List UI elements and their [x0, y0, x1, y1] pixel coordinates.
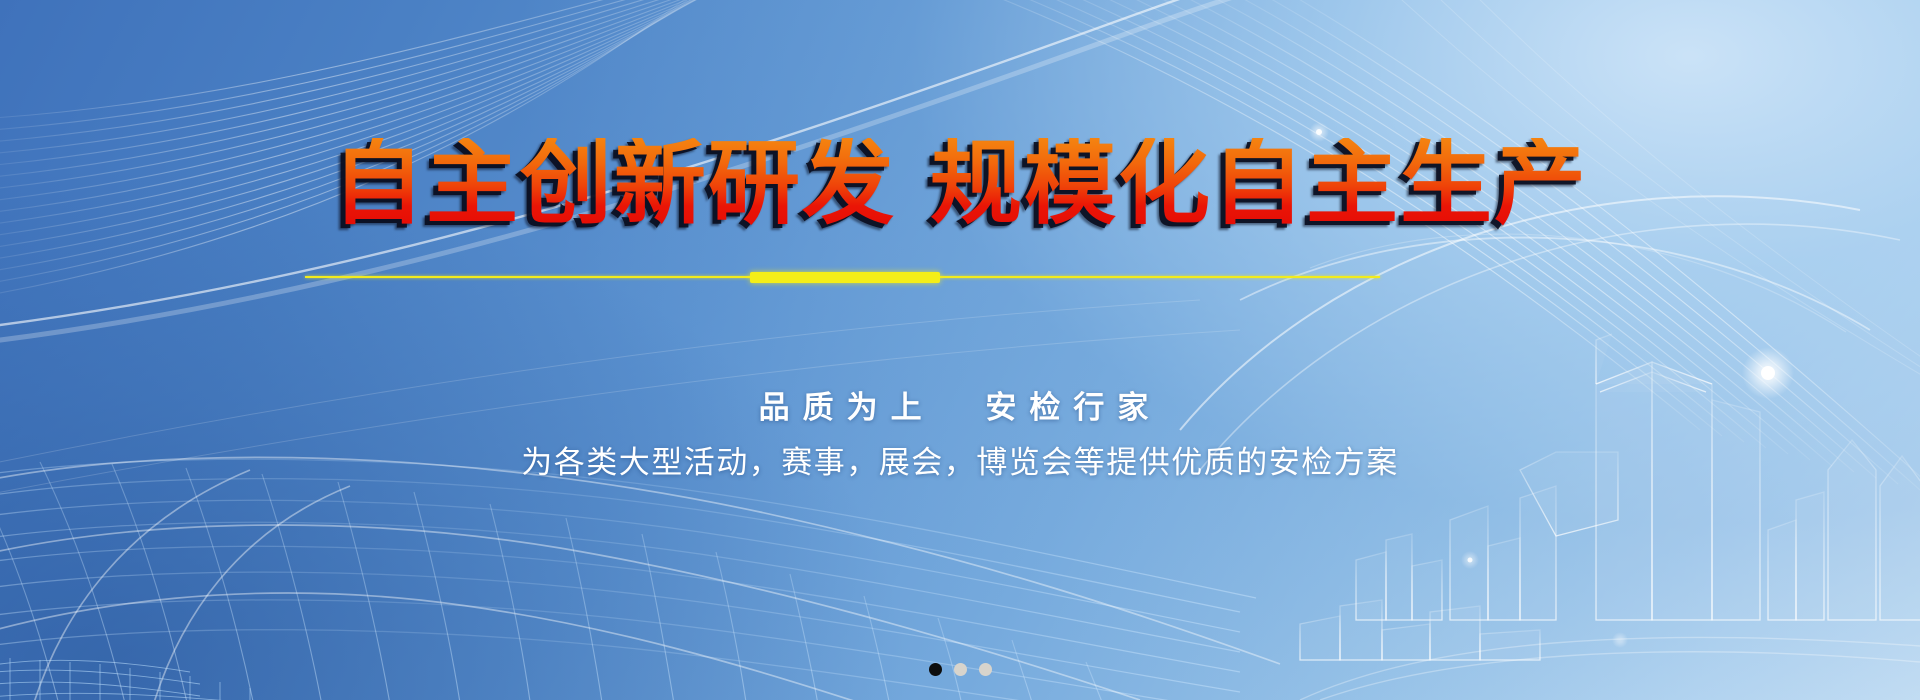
carousel-dots — [0, 663, 1920, 676]
hero-banner: 自主创新研发 规模化自主生产 品质为上 安检行家 为各类大型活动，赛事，展会，博… — [0, 0, 1920, 700]
carousel-dot-2[interactable] — [954, 663, 967, 676]
carousel-dot-1[interactable] — [929, 663, 942, 676]
subtitle-primary-left: 品质为上 — [759, 390, 935, 426]
subtitle-secondary: 为各类大型活动，赛事，展会，博览会等提供优质的安检方案 — [0, 443, 1920, 483]
subtitle-container: 品质为上 安检行家 为各类大型活动，赛事，展会，博览会等提供优质的安检方案 — [0, 390, 1920, 483]
main-title: 自主创新研发 规模化自主生产 — [332, 138, 1588, 230]
subtitle-primary: 品质为上 安检行家 — [0, 390, 1920, 427]
subtitle-primary-right: 安检行家 — [985, 390, 1161, 426]
carousel-dot-3[interactable] — [979, 663, 992, 676]
title-container: 自主创新研发 规模化自主生产 — [0, 76, 1920, 291]
